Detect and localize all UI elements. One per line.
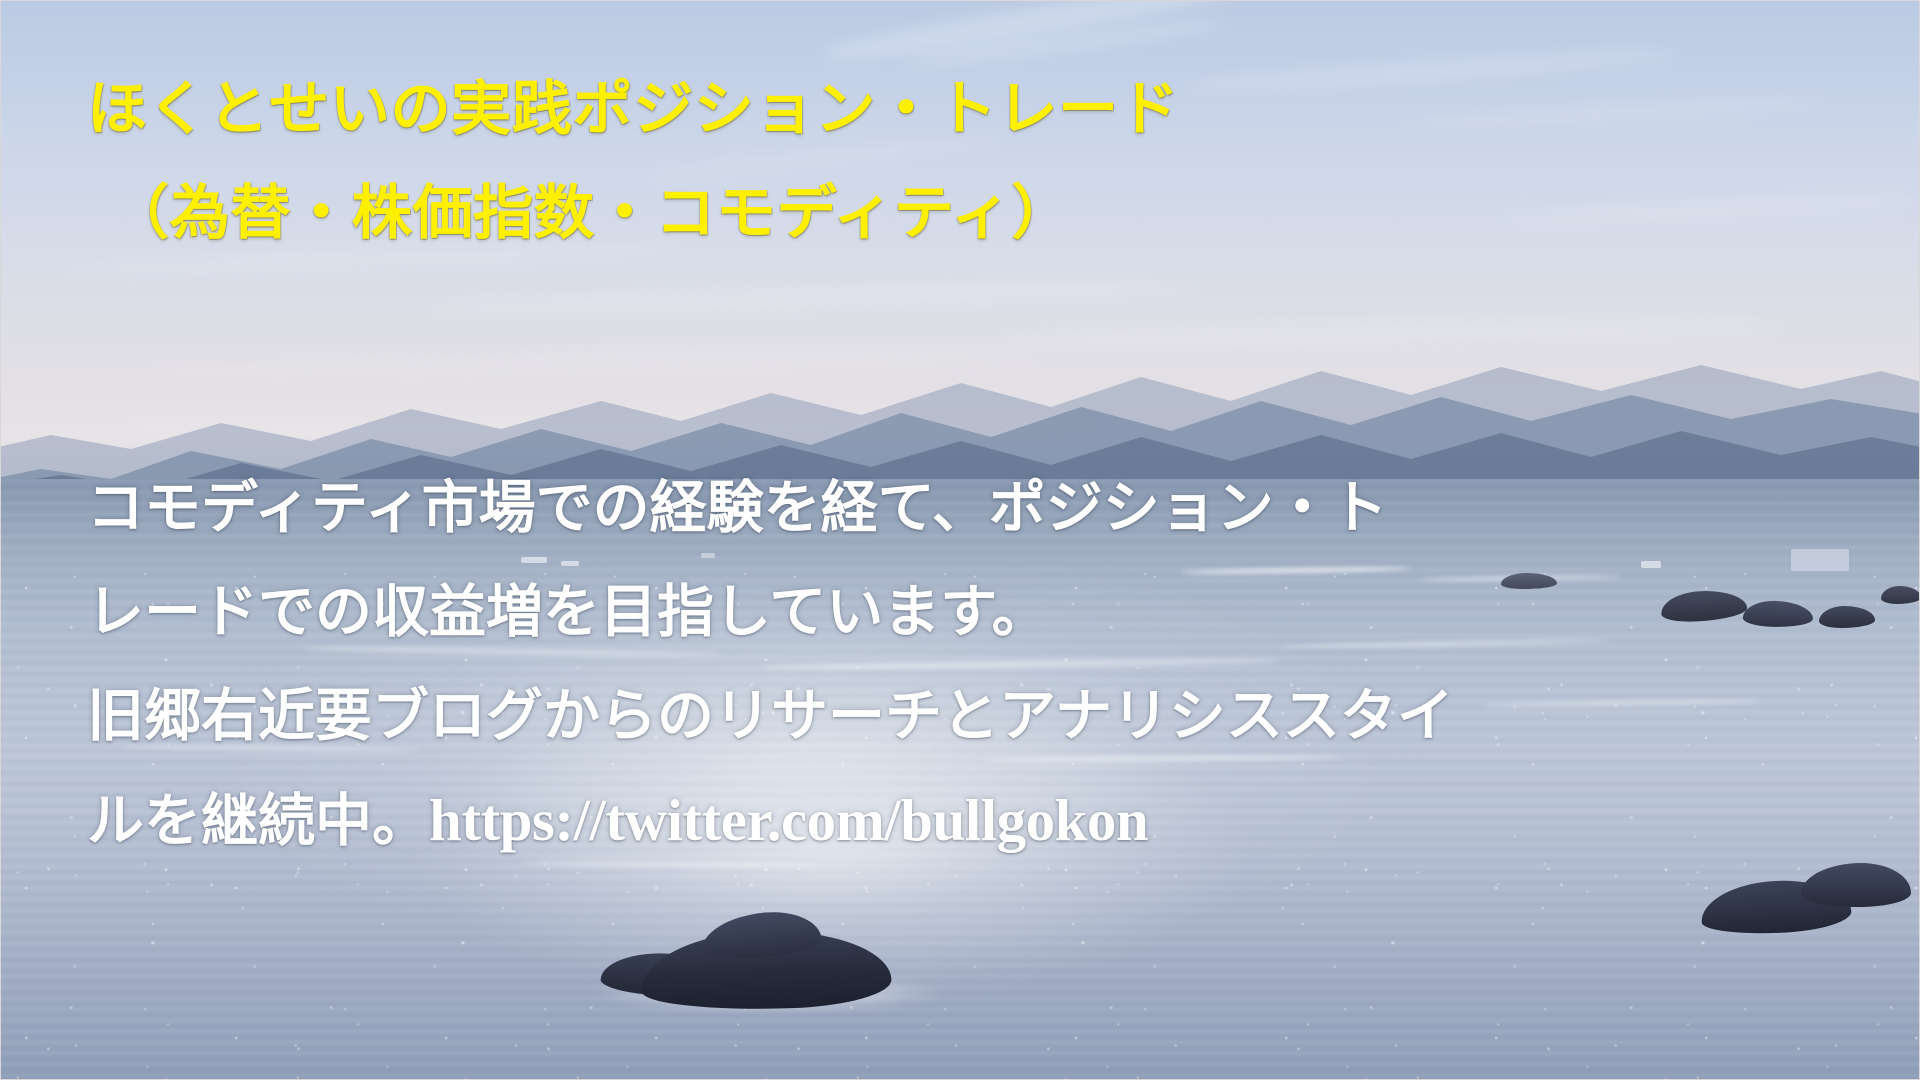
slide-canvas: ほくとせいの実践ポジション・トレード （為替・株価指数・コモディティ） コモディ… (0, 0, 1920, 1080)
body-line-4-prefix: ルを継続中。 (87, 789, 429, 853)
body-line-3: 旧郷右近要ブログからのリサーチとアナリシススタイ (87, 664, 1647, 768)
body-line-2: レードでの収益増を目指しています。 (87, 560, 1647, 664)
twitter-url-link[interactable]: https://twitter.com/bullgokon (429, 787, 1148, 853)
text-overlay: ほくとせいの実践ポジション・トレード （為替・株価指数・コモディティ） コモディ… (1, 1, 1919, 1079)
headline-block: ほくとせいの実践ポジション・トレード （為替・株価指数・コモディティ） (87, 57, 1587, 265)
headline-line-1: ほくとせいの実践ポジション・トレード (87, 57, 1617, 161)
headline-line-2: （為替・株価指数・コモディティ） (109, 161, 1617, 265)
body-text-block: コモディティ市場での経験を経て、ポジション・ト レードでの収益増を目指しています… (87, 456, 1647, 873)
body-line-1: コモディティ市場での経験を経て、ポジション・ト (87, 456, 1647, 560)
body-line-4: ルを継続中。https://twitter.com/bullgokon (87, 768, 1647, 873)
